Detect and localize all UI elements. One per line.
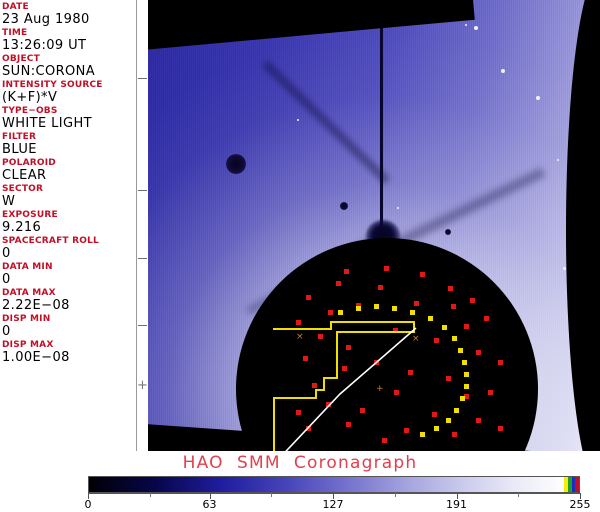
overlay-point-red [384, 266, 389, 271]
metadata-value: 1.00E−08 [2, 350, 136, 365]
colorbar[interactable] [88, 476, 580, 493]
overlay-plus-marker: + [376, 385, 384, 394]
metadata-value: (K+F)*V [2, 90, 136, 105]
overlay-point-red [498, 426, 503, 431]
metadata-entry: DATA MAX2.22E−08 [2, 288, 136, 313]
overlay-point-yellow [462, 360, 467, 365]
metadata-value: SUN:CORONA [2, 64, 136, 79]
overlay-point-red [328, 310, 333, 315]
overlay-point-red [498, 360, 503, 365]
metadata-label: SECTOR [2, 184, 136, 194]
overlay-point-red [344, 269, 349, 274]
metadata-label: FILTER [2, 132, 136, 142]
overlay-point-red [404, 428, 409, 433]
overlay-x-marker: × [296, 333, 304, 342]
overlay-point-red [342, 366, 347, 371]
colorbar-section: HAO SMM Coronagraph 063127191255 [0, 451, 600, 512]
metadata-value: 0 [2, 324, 136, 339]
overlay-point-yellow [464, 384, 469, 389]
metadata-entry: EXPOSURE9.216 [2, 210, 136, 235]
axis-tick-left [138, 258, 147, 259]
overlay-point-red [484, 316, 489, 321]
colorbar-tick-label: 255 [570, 499, 591, 511]
overlay-point-red [296, 320, 301, 325]
metadata-label: TYPE−OBS [2, 106, 136, 116]
overlay-point-yellow [460, 396, 465, 401]
metadata-label: OBJECT [2, 54, 136, 64]
coronagraph-viewer: DATE23 Aug 1980TIME13:26:09 UTOBJECTSUN:… [0, 0, 600, 512]
metadata-entry: INTENSITY SOURCE(K+F)*V [2, 80, 136, 105]
overlay-point-red [432, 412, 437, 417]
overlay-point-red [306, 295, 311, 300]
overlay-point-red [306, 426, 311, 431]
overlay-point-red [360, 408, 365, 413]
overlay-point-red [336, 281, 341, 286]
overlay-point-red [318, 334, 323, 339]
colorbar-red-stripe [575, 477, 579, 492]
overlay-point-red [470, 298, 475, 303]
overlay-point-red [346, 422, 351, 427]
overlay-point-yellow [338, 310, 343, 315]
metadata-label: TIME [2, 28, 136, 38]
overlay-point-yellow [374, 304, 379, 309]
metadata-label: DISP MAX [2, 340, 136, 350]
overlay-point-yellow [458, 348, 463, 353]
metadata-label: DATA MAX [2, 288, 136, 298]
metadata-value: W [2, 194, 136, 209]
overlay-point-yellow [454, 408, 459, 413]
metadata-entry: DATE23 Aug 1980 [2, 2, 136, 27]
axis-plus-left: + [137, 379, 148, 392]
overlay-point-yellow [464, 372, 469, 377]
overlay-point-red [476, 418, 481, 423]
overlay-point-yellow [452, 336, 457, 341]
metadata-entry: OBJECTSUN:CORONA [2, 54, 136, 79]
metadata-label: DATA MIN [2, 262, 136, 272]
metadata-value: CLEAR [2, 168, 136, 183]
colorbar-gradient [89, 477, 565, 492]
overlay-point-yellow [410, 310, 415, 315]
metadata-value: 23 Aug 1980 [2, 12, 136, 27]
metadata-entry: SECTORW [2, 184, 136, 209]
overlay-point-red [451, 304, 456, 309]
metadata-value: 9.216 [2, 220, 136, 235]
chart-title: HAO SMM Coronagraph [0, 453, 600, 473]
overlay-point-red [476, 350, 481, 355]
metadata-label: DISP MIN [2, 314, 136, 324]
metadata-label: INTENSITY SOURCE [2, 80, 136, 90]
overlay-point-red [446, 376, 451, 381]
overlay-point-red [414, 301, 419, 306]
colorbar-tick-label: 127 [323, 499, 344, 511]
metadata-entry: DISP MIN0 [2, 314, 136, 339]
metadata-entry: FILTERBLUE [2, 132, 136, 157]
metadata-label: SPACECRAFT ROLL [2, 236, 136, 246]
coronagraph-image[interactable]: ××+ [148, 0, 600, 451]
overlay-point-yellow [446, 418, 451, 423]
overlay-x-marker: × [412, 335, 420, 344]
metadata-sidebar: DATE23 Aug 1980TIME13:26:09 UTOBJECTSUN:… [0, 0, 137, 451]
metadata-entry: SPACECRAFT ROLL0 [2, 236, 136, 261]
colorbar-tick-label: 63 [203, 499, 217, 511]
overlay-point-yellow [442, 325, 447, 330]
colorbar-tick-label: 191 [446, 499, 467, 511]
overlay-point-red [434, 338, 439, 343]
colorbar-minor-tick [150, 493, 151, 497]
colorbar-tick-label: 0 [85, 499, 92, 511]
overlay-point-yellow [420, 432, 425, 437]
metadata-label: DATE [2, 2, 136, 12]
overlay-point-yellow [392, 306, 397, 311]
metadata-entry: TYPE−OBSWHITE LIGHT [2, 106, 136, 131]
metadata-entry: DATA MIN0 [2, 262, 136, 287]
axis-tick-left [138, 325, 147, 326]
colorbar-minor-tick [395, 493, 396, 497]
metadata-value: 0 [2, 246, 136, 261]
overlay-point-red [393, 328, 398, 333]
overlay-point-red [394, 390, 399, 395]
metadata-list: DATE23 Aug 1980TIME13:26:09 UTOBJECTSUN:… [2, 2, 136, 365]
colorbar-minor-tick [271, 493, 272, 497]
overlay-point-red [464, 324, 469, 329]
overlay-point-red [420, 272, 425, 277]
colorbar-minor-tick [518, 493, 519, 497]
axis-tick-left [138, 190, 147, 191]
overlay-point-red [346, 345, 351, 350]
overlay-point-red [303, 356, 308, 361]
overlay-point-red [382, 438, 387, 443]
overlay-point-red [296, 410, 301, 415]
overlay-point-red [378, 285, 383, 290]
metadata-entry: DISP MAX1.00E−08 [2, 340, 136, 365]
overlay-point-yellow [434, 426, 439, 431]
overlay-point-red [374, 360, 379, 365]
overlay-point-red [448, 286, 453, 291]
overlay-point-yellow [428, 316, 433, 321]
overlay-point-red [452, 432, 457, 437]
metadata-value: 0 [2, 272, 136, 287]
metadata-value: BLUE [2, 142, 136, 157]
metadata-label: POLAROID [2, 158, 136, 168]
axis-tick-left [138, 78, 147, 79]
overlay-point-red [326, 402, 331, 407]
metadata-entry: POLAROIDCLEAR [2, 158, 136, 183]
metadata-value: WHITE LIGHT [2, 116, 136, 131]
metadata-entry: TIME13:26:09 UT [2, 28, 136, 53]
metadata-label: EXPOSURE [2, 210, 136, 220]
overlay-point-red [488, 390, 493, 395]
overlay-point-yellow [356, 306, 361, 311]
metadata-value: 13:26:09 UT [2, 38, 136, 53]
overlay-point-red [312, 383, 317, 388]
overlay-point-red [408, 370, 413, 375]
metadata-value: 2.22E−08 [2, 298, 136, 313]
